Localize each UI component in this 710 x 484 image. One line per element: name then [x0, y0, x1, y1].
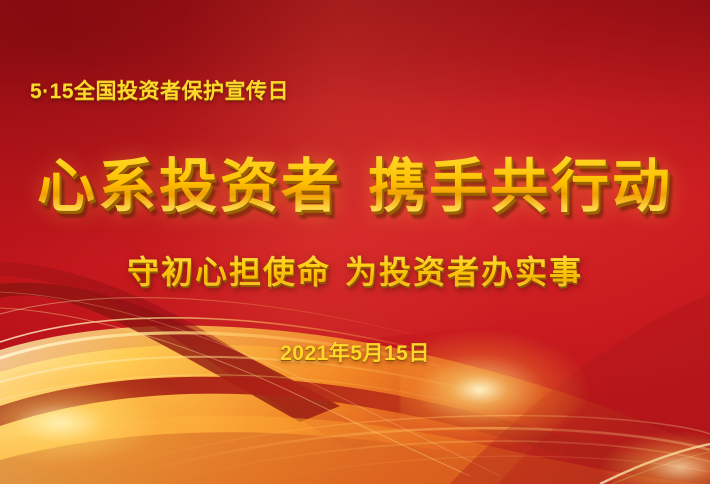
- poster-text-layer: 5·15全国投资者保护宣传日 心系投资者携手共行动 守初心担使命为投资者办实事 …: [0, 0, 710, 484]
- headline-segment-1: 心系投资者: [37, 154, 342, 219]
- poster-subheadline: 守初心担使命为投资者办实事: [0, 247, 710, 293]
- investor-protection-poster: 5·15全国投资者保护宣传日 心系投资者携手共行动 守初心担使命为投资者办实事 …: [0, 0, 710, 484]
- poster-eyebrow-text: 5·15全国投资者保护宣传日: [30, 75, 289, 105]
- headline-segment-2: 携手共行动: [368, 154, 673, 219]
- poster-date-text: 2021年5月15日: [0, 337, 710, 367]
- subheadline-segment-2: 为投资者办实事: [345, 254, 583, 290]
- poster-headline: 心系投资者携手共行动: [0, 139, 710, 223]
- subheadline-segment-1: 守初心担使命: [127, 254, 331, 290]
